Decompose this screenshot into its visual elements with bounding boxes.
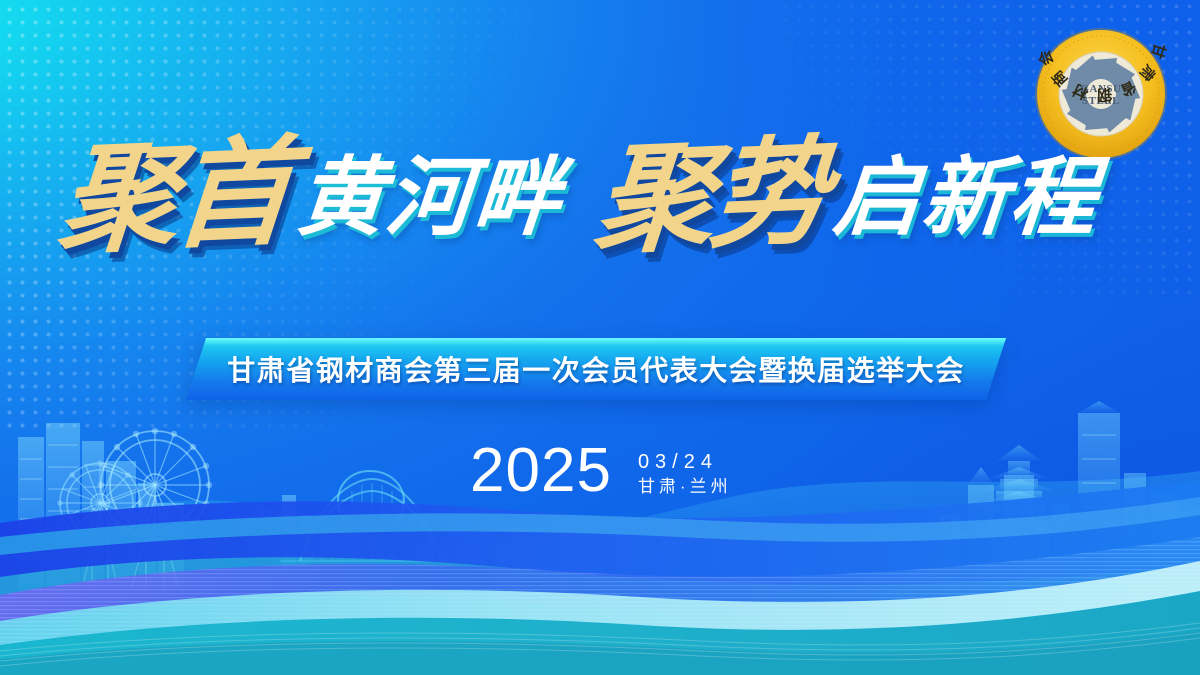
subtitle-banner: 甘肃省钢材商会第三届一次会员代表大会暨换届选举大会 — [196, 338, 996, 400]
date-year: 2025 — [470, 440, 612, 502]
date-detail-column: 03/24 甘肃·兰州 — [638, 448, 732, 495]
subtitle-text: 甘肃省钢材商会第三届一次会员代表大会暨换届选举大会 — [196, 338, 996, 400]
date-month-day: 03/24 — [638, 452, 732, 472]
poster-canvas: GANSU STEEL 甘肃省钢材商会 聚首 黄河畔 聚势 启新程 甘肃省钢材商… — [0, 0, 1200, 675]
association-logo: GANSU STEEL 甘肃省钢材商会 — [1033, 26, 1169, 162]
date-location: 甘肃·兰州 — [638, 478, 732, 495]
date-block: 2025 03/24 甘肃·兰州 — [470, 440, 732, 502]
